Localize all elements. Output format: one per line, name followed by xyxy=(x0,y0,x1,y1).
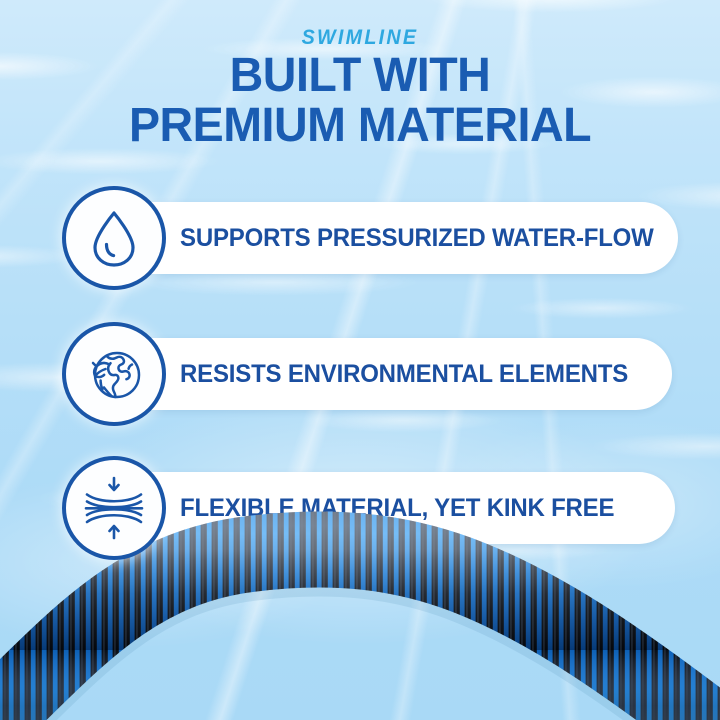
page-title: BUILT WITH PREMIUM MATERIAL xyxy=(0,52,720,149)
infographic-canvas: SWIMLINE BUILT WITH PREMIUM MATERIAL SUP… xyxy=(0,0,720,720)
globe-leaf-icon xyxy=(82,342,146,406)
feature-pill: RESISTS ENVIRONMENTAL ELEMENTS xyxy=(112,338,672,410)
feature-label: SUPPORTS PRESSURIZED WATER-FLOW xyxy=(180,224,654,253)
hose-shading xyxy=(0,549,720,720)
feature-icon-badge xyxy=(62,186,166,290)
feature-icon-badge xyxy=(62,456,166,560)
feature-item: SUPPORTS PRESSURIZED WATER-FLOW xyxy=(0,186,720,290)
brand-logo: SWIMLINE xyxy=(22,26,699,50)
flex-compression-icon xyxy=(79,473,149,543)
feature-icon-badge xyxy=(62,322,166,426)
feature-label: RESISTS ENVIRONMENTAL ELEMENTS xyxy=(180,360,628,389)
water-drop-icon xyxy=(82,206,146,270)
headline-line-2: PREMIUM MATERIAL xyxy=(11,102,709,149)
feature-item: RESISTS ENVIRONMENTAL ELEMENTS xyxy=(0,322,720,426)
headline-line-1: BUILT WITH xyxy=(11,52,709,99)
feature-pill: SUPPORTS PRESSURIZED WATER-FLOW xyxy=(112,202,678,274)
